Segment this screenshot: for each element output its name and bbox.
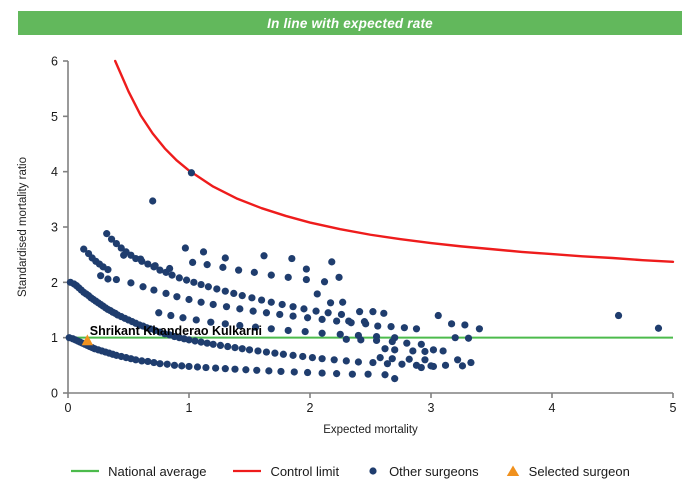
data-point-other-surgeon — [380, 310, 387, 317]
data-point-other-surgeon — [389, 338, 396, 345]
data-point-other-surgeon — [391, 375, 398, 382]
data-point-other-surgeon — [333, 317, 340, 324]
data-point-other-surgeon — [381, 371, 388, 378]
data-point-other-surgeon — [300, 305, 307, 312]
data-point-other-surgeon — [268, 272, 275, 279]
data-point-other-surgeon — [250, 308, 257, 315]
data-point-other-surgeon — [152, 262, 159, 269]
data-point-other-surgeon — [263, 309, 270, 316]
data-point-other-surgeon — [156, 360, 163, 367]
data-point-other-surgeon — [452, 334, 459, 341]
data-point-other-surgeon — [265, 367, 272, 374]
data-point-other-surgeon — [242, 366, 249, 373]
data-point-other-surgeon — [268, 299, 275, 306]
data-point-other-surgeon — [403, 340, 410, 347]
data-point-other-surgeon — [401, 324, 408, 331]
data-point-other-surgeon — [442, 362, 449, 369]
x-axis-tick-label: 2 — [307, 401, 314, 415]
data-point-other-surgeon — [435, 312, 442, 319]
legend-control-limit[interactable]: Control limit — [232, 464, 339, 479]
data-point-other-surgeon — [198, 281, 205, 288]
data-point-other-surgeon — [304, 314, 311, 321]
data-point-other-surgeon — [276, 311, 283, 318]
data-point-other-surgeon — [335, 274, 342, 281]
data-point-other-surgeon — [176, 274, 183, 281]
y-axis-tick-label: 2 — [51, 276, 58, 290]
data-point-other-surgeon — [254, 347, 261, 354]
data-point-other-surgeon — [369, 308, 376, 315]
data-point-other-surgeon — [268, 325, 275, 332]
data-point-other-surgeon — [357, 336, 364, 343]
data-point-other-surgeon — [194, 363, 201, 370]
data-point-other-surgeon — [421, 348, 428, 355]
data-point-other-surgeon — [430, 346, 437, 353]
x-axis-tick-label: 0 — [65, 401, 72, 415]
data-point-other-surgeon — [219, 264, 226, 271]
status-banner-label: In line with expected rate — [267, 16, 433, 31]
data-point-other-surgeon — [162, 290, 169, 297]
data-point-other-surgeon — [149, 197, 156, 204]
data-point-other-surgeon — [398, 361, 405, 368]
data-point-other-surgeon — [373, 337, 380, 344]
data-point-other-surgeon — [139, 283, 146, 290]
data-point-other-surgeon — [104, 275, 111, 282]
data-point-other-surgeon — [188, 169, 195, 176]
data-point-other-surgeon — [418, 364, 425, 371]
data-point-other-surgeon — [418, 341, 425, 348]
x-axis-tick-label: 1 — [186, 401, 193, 415]
data-point-other-surgeon — [312, 308, 319, 315]
data-point-other-surgeon — [182, 244, 189, 251]
data-point-other-surgeon — [132, 356, 139, 363]
data-point-other-surgeon — [337, 331, 344, 338]
data-point-other-surgeon — [104, 266, 111, 273]
data-point-other-surgeon — [166, 265, 173, 272]
data-point-other-surgeon — [222, 288, 229, 295]
data-point-other-surgeon — [178, 362, 185, 369]
legend-triangle-icon — [505, 464, 521, 478]
data-point-other-surgeon — [205, 283, 212, 290]
data-point-other-surgeon — [103, 230, 110, 237]
data-point-other-surgeon — [167, 312, 174, 319]
data-point-other-surgeon — [191, 337, 198, 344]
data-point-other-surgeon — [280, 351, 287, 358]
data-point-other-surgeon — [150, 286, 157, 293]
data-point-other-surgeon — [251, 269, 258, 276]
data-point-other-surgeon — [349, 371, 356, 378]
data-point-other-surgeon — [231, 344, 238, 351]
data-point-other-surgeon — [327, 299, 334, 306]
data-point-other-surgeon — [113, 276, 120, 283]
data-point-other-surgeon — [345, 317, 352, 324]
data-point-other-surgeon — [374, 322, 381, 329]
funnel-plot-svg: 0123456012345Expected mortalityStandardi… — [0, 40, 700, 455]
data-point-other-surgeon — [303, 265, 310, 272]
data-point-other-surgeon — [655, 325, 662, 332]
data-point-other-surgeon — [144, 358, 151, 365]
y-axis-tick-label: 5 — [51, 110, 58, 124]
data-point-other-surgeon — [246, 346, 253, 353]
data-point-other-surgeon — [333, 370, 340, 377]
data-point-other-surgeon — [319, 355, 326, 362]
data-point-other-surgeon — [285, 274, 292, 281]
data-point-other-surgeon — [213, 285, 220, 292]
data-point-other-surgeon — [97, 272, 104, 279]
data-point-other-surgeon — [222, 254, 229, 261]
data-point-other-surgeon — [448, 320, 455, 327]
data-point-other-surgeon — [355, 358, 362, 365]
data-point-other-surgeon — [230, 290, 237, 297]
data-point-other-surgeon — [198, 299, 205, 306]
data-point-other-surgeon — [381, 345, 388, 352]
data-point-other-surgeon — [217, 342, 224, 349]
data-point-other-surgeon — [321, 278, 328, 285]
legend-line-swatch — [70, 464, 100, 478]
data-point-other-surgeon — [331, 356, 338, 363]
data-point-other-surgeon — [413, 325, 420, 332]
data-point-other-surgeon — [150, 359, 157, 366]
data-point-other-surgeon — [212, 365, 219, 372]
x-axis-tick-label: 3 — [428, 401, 435, 415]
legend-dot — [369, 467, 376, 474]
data-point-other-surgeon — [369, 359, 376, 366]
data-point-other-surgeon — [171, 362, 178, 369]
data-point-other-surgeon — [440, 347, 447, 354]
y-axis-tick-label: 6 — [51, 55, 58, 69]
legend-item-label: Other surgeons — [389, 464, 479, 479]
control-limit-line — [115, 61, 673, 262]
data-point-other-surgeon — [361, 318, 368, 325]
legend-circle-icon — [365, 464, 381, 478]
data-point-other-surgeon — [200, 248, 207, 255]
data-point-other-surgeon — [258, 296, 265, 303]
data-point-other-surgeon — [179, 314, 186, 321]
x-axis-title: Expected mortality — [323, 424, 418, 436]
data-point-other-surgeon — [356, 308, 363, 315]
legend-item-label: Selected surgeon — [529, 464, 630, 479]
data-point-other-surgeon — [173, 293, 180, 300]
legend-item-label: Control limit — [270, 464, 339, 479]
x-axis-tick-label: 5 — [670, 401, 677, 415]
data-point-other-surgeon — [465, 335, 472, 342]
data-point-other-surgeon — [289, 312, 296, 319]
data-point-other-surgeon — [164, 361, 171, 368]
chart-legend: National averageControl limitOther surge… — [0, 456, 700, 486]
data-point-other-surgeon — [202, 364, 209, 371]
data-point-other-surgeon — [224, 343, 231, 350]
data-point-other-surgeon — [253, 367, 260, 374]
data-point-other-surgeon — [406, 356, 413, 363]
data-point-other-surgeon — [155, 309, 162, 316]
data-point-other-surgeon — [288, 255, 295, 262]
data-point-other-surgeon — [319, 330, 326, 337]
data-point-other-surgeon — [314, 290, 321, 297]
legend-other-surgeons[interactable]: Other surgeons — [365, 464, 479, 479]
data-point-other-surgeon — [183, 277, 190, 284]
data-point-other-surgeon — [239, 292, 246, 299]
data-point-other-surgeon — [289, 352, 296, 359]
data-point-other-surgeon — [260, 252, 267, 259]
data-point-other-surgeon — [459, 362, 466, 369]
data-point-other-surgeon — [339, 299, 346, 306]
data-point-other-surgeon — [239, 345, 246, 352]
data-point-other-surgeon — [319, 369, 326, 376]
data-point-other-surgeon — [302, 328, 309, 335]
funnel-plot-page: In line with expected rate 0123456012345… — [0, 0, 700, 500]
data-point-other-surgeon — [343, 336, 350, 343]
data-point-other-surgeon — [343, 357, 350, 364]
data-point-other-surgeon — [289, 303, 296, 310]
data-point-other-surgeon — [304, 369, 311, 376]
data-point-other-surgeon — [303, 276, 310, 283]
data-point-other-surgeon — [476, 325, 483, 332]
data-point-other-surgeon — [235, 267, 242, 274]
data-point-other-surgeon — [248, 294, 255, 301]
data-point-other-surgeon — [409, 347, 416, 354]
legend-line-swatch — [232, 464, 262, 478]
data-point-other-surgeon — [204, 261, 211, 268]
data-point-other-surgeon — [338, 311, 345, 318]
data-point-other-surgeon — [279, 301, 286, 308]
data-point-other-surgeon — [421, 356, 428, 363]
data-point-other-surgeon — [391, 346, 398, 353]
y-axis-tick-label: 3 — [51, 221, 58, 235]
data-point-other-surgeon — [231, 366, 238, 373]
data-point-other-surgeon — [236, 305, 243, 312]
data-point-other-surgeon — [120, 252, 127, 259]
data-point-other-surgeon — [319, 316, 326, 323]
data-point-other-surgeon — [309, 354, 316, 361]
data-point-other-surgeon — [277, 368, 284, 375]
y-axis-tick-label: 1 — [51, 331, 58, 345]
data-point-other-surgeon — [271, 350, 278, 357]
data-point-other-surgeon — [615, 312, 622, 319]
data-point-other-surgeon — [325, 309, 332, 316]
data-point-other-surgeon — [387, 323, 394, 330]
data-point-other-surgeon — [185, 363, 192, 370]
data-point-other-surgeon — [263, 348, 270, 355]
legend-item-label: National average — [108, 464, 206, 479]
data-point-other-surgeon — [190, 279, 197, 286]
data-point-other-surgeon — [328, 258, 335, 265]
selected-surgeon-annotation: Shrikant Khanderao Kulkarni — [90, 324, 262, 338]
data-point-other-surgeon — [222, 365, 229, 372]
data-point-other-surgeon — [291, 368, 298, 375]
data-point-other-surgeon — [389, 355, 396, 362]
chart-plot-area: 0123456012345Expected mortalityStandardi… — [0, 40, 700, 455]
data-point-other-surgeon — [430, 363, 437, 370]
legend-national-average[interactable]: National average — [70, 464, 206, 479]
data-point-other-surgeon — [204, 340, 211, 347]
data-point-other-surgeon — [127, 279, 134, 286]
x-axis-tick-label: 4 — [549, 401, 556, 415]
data-point-other-surgeon — [454, 356, 461, 363]
data-point-other-surgeon — [210, 341, 217, 348]
data-point-other-surgeon — [461, 321, 468, 328]
y-axis-tick-label: 4 — [51, 165, 58, 179]
y-axis-title: Standardised mortality ratio — [17, 157, 29, 297]
data-point-other-surgeon — [467, 359, 474, 366]
data-point-other-surgeon — [193, 316, 200, 323]
data-point-other-surgeon — [137, 255, 144, 262]
data-point-other-surgeon — [189, 259, 196, 266]
data-point-other-surgeon — [198, 338, 205, 345]
data-point-other-surgeon — [223, 303, 230, 310]
data-point-other-surgeon — [299, 353, 306, 360]
legend-triangle — [506, 466, 518, 477]
legend-selected-surgeon[interactable]: Selected surgeon — [505, 464, 630, 479]
data-point-other-surgeon — [210, 301, 217, 308]
data-point-other-surgeon — [285, 327, 292, 334]
data-point-other-surgeon — [168, 272, 175, 279]
data-point-other-surgeon — [377, 354, 384, 361]
data-point-other-surgeon — [364, 371, 371, 378]
data-point-other-surgeon — [185, 296, 192, 303]
other-surgeons-points — [66, 169, 662, 382]
y-axis-tick-label: 0 — [51, 387, 58, 401]
status-banner: In line with expected rate — [18, 11, 682, 35]
